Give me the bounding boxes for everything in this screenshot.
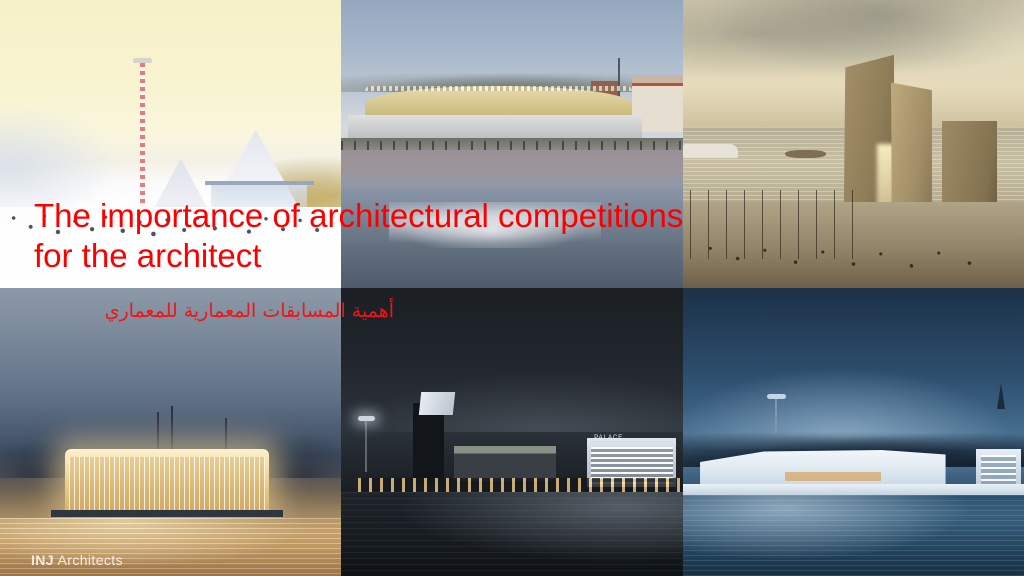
floodlight-mast [365, 420, 367, 472]
neighbouring-apartment-block [976, 449, 1020, 486]
slide-subtitle-arabic: أهمية المسابقات المعمارية للمعماري [34, 300, 394, 324]
building-podium [348, 115, 642, 141]
illuminated-tower-crown [418, 392, 455, 415]
ferry-ship [683, 144, 738, 158]
gallery-image-bottom-middle: PALACE [341, 288, 683, 576]
plaza-crowd [683, 230, 1024, 276]
small-island [785, 150, 826, 159]
gallery-image-bottom-left [0, 288, 341, 576]
watermark-word: Architects [58, 552, 123, 568]
palace-sign-text: PALACE [594, 435, 623, 441]
observation-tower [140, 63, 145, 221]
church-spire [618, 58, 620, 98]
gallery-image-top-left [0, 0, 341, 288]
warm-lit-interior-band [785, 472, 880, 481]
water-glint [389, 202, 601, 248]
glowing-pavilion [65, 449, 270, 512]
dark-tower-body [413, 403, 444, 484]
horizon-haze [0, 104, 116, 208]
quay-window-lights [358, 478, 683, 492]
image-gallery-grid: PALACE [0, 0, 1024, 576]
moonlit-water [683, 495, 1024, 576]
gallery-image-top-right [683, 0, 1024, 288]
waterfront-block [454, 446, 557, 481]
presentation-slide: PALACE The importance of architectural c… [0, 0, 1024, 576]
undulating-golden-roof [365, 86, 632, 115]
gallery-image-bottom-right [683, 288, 1024, 576]
watermark-mark: INJ [31, 552, 54, 568]
church-spire-silhouette [997, 383, 1005, 409]
pavilion-plinth [51, 510, 283, 517]
gallery-image-top-middle [341, 0, 683, 288]
night-harbour-water [341, 492, 683, 576]
watermark-logo: INJ Architects [31, 552, 123, 568]
night-sky-glow [341, 369, 683, 432]
crowd-figures [0, 202, 341, 242]
pavilion-canopy-edge [205, 181, 314, 185]
